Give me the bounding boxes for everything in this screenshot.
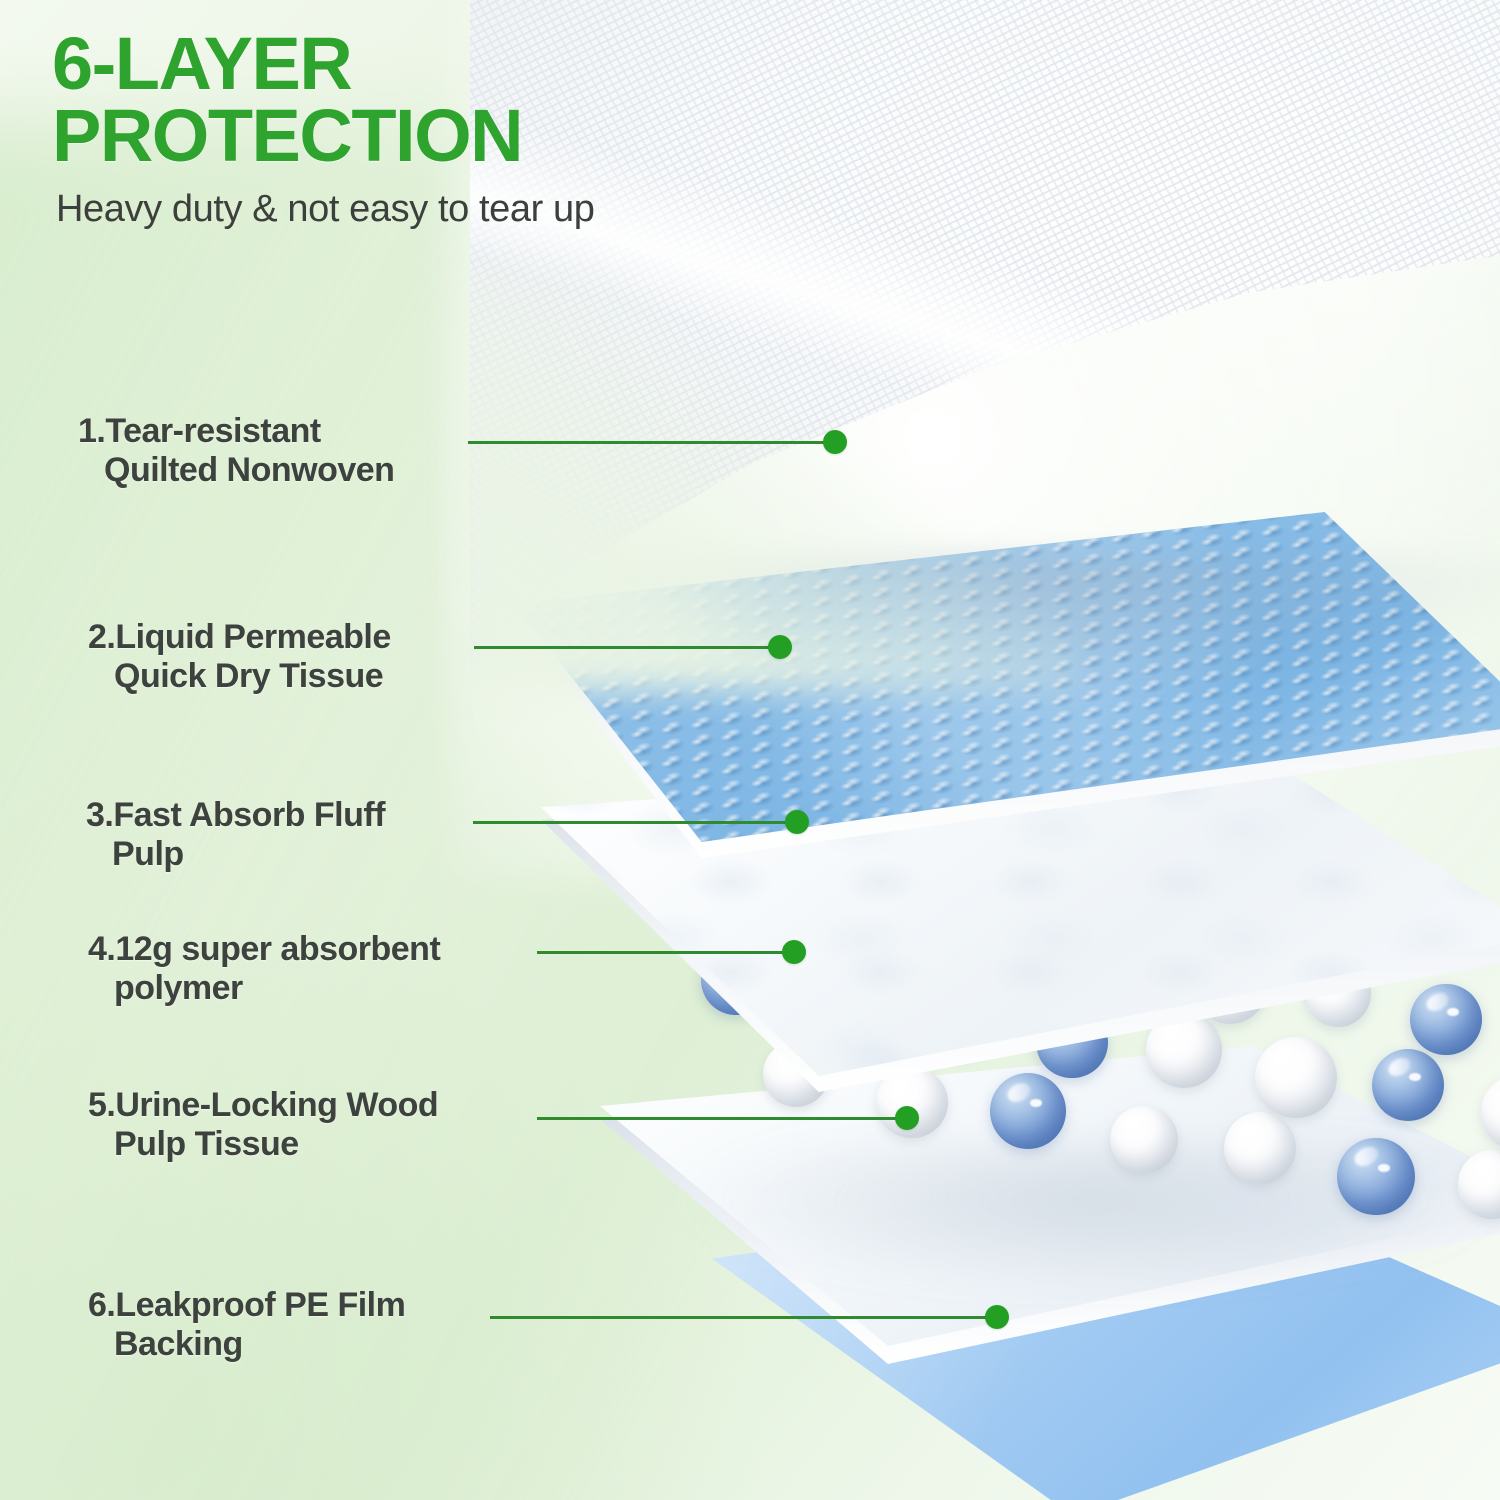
leader-bar-3 [473, 821, 800, 824]
sap-bead-white [1458, 1150, 1500, 1219]
header-block: 6-LAYER PROTECTION Heavy duty & not easy… [52, 28, 812, 231]
leader-dot-2 [768, 635, 792, 659]
label-layer-3: 3.Fast Absorb Fluff Pulp [86, 796, 506, 875]
label-layer-2-line-2: Quick Dry Tissue [88, 657, 518, 696]
leader-line-layer-1 [468, 431, 838, 453]
leader-line-layer-6 [490, 1306, 1000, 1328]
leader-dot-5 [895, 1106, 919, 1130]
bead-highlight [1496, 1080, 1500, 1107]
label-layer-6-line-2: Backing [88, 1325, 538, 1364]
leader-bar-6 [490, 1316, 1000, 1319]
sap-bead-white [1224, 1112, 1296, 1184]
leader-bar-1 [468, 441, 838, 444]
leader-line-layer-5 [537, 1107, 910, 1129]
leader-dot-1 [823, 430, 847, 454]
label-layer-1: 1.Tear-resistant Quilted Nonwoven [78, 412, 498, 491]
bead-specular-dot [1447, 1008, 1458, 1016]
leader-line-layer-3 [473, 811, 800, 833]
page-subtitle: Heavy duty & not easy to tear up [56, 188, 812, 231]
leader-line-layer-2 [474, 636, 783, 658]
leader-bar-5 [537, 1117, 910, 1120]
label-layer-5-line-1: 5.Urine-Locking Wood [88, 1086, 438, 1124]
label-layer-1-line-1: 1.Tear-resistant [78, 412, 321, 450]
sap-bead-blue [1410, 984, 1481, 1055]
leader-dot-6 [985, 1305, 1009, 1329]
title-line-2: PROTECTION [52, 100, 812, 172]
leader-line-layer-4 [537, 941, 797, 963]
bead-highlight [1237, 1117, 1265, 1142]
label-layer-2: 2.Liquid Permeable Quick Dry Tissue [88, 618, 518, 697]
label-layer-3-line-2: Pulp [86, 835, 506, 874]
leader-bar-2 [474, 646, 783, 649]
leader-dot-3 [785, 810, 809, 834]
label-layer-1-line-2: Quilted Nonwoven [78, 451, 498, 490]
sap-bead-blue [1337, 1138, 1414, 1215]
bead-highlight [1271, 1043, 1302, 1071]
infographic-canvas: 6-LAYER PROTECTION Heavy duty & not easy… [0, 0, 1500, 1500]
label-layer-3-line-1: 3.Fast Absorb Fluff [86, 796, 385, 834]
bead-specular-dot [1030, 1099, 1042, 1107]
bead-highlight [1123, 1111, 1149, 1134]
label-layer-6: 6.Leakproof PE Film Backing [88, 1286, 538, 1365]
bead-highlight [1471, 1156, 1497, 1180]
leader-dot-4 [782, 940, 806, 964]
sap-bead-blue [990, 1073, 1066, 1149]
title-line-1: 6-LAYER [52, 22, 351, 105]
label-layer-2-line-1: 2.Liquid Permeable [88, 618, 391, 656]
leader-bar-4 [537, 951, 797, 954]
sap-bead-white [1255, 1037, 1336, 1118]
bead-highlight [1004, 1079, 1033, 1105]
bead-specular-dot [1409, 1073, 1421, 1081]
bead-specular-dot [1378, 1164, 1390, 1172]
label-layer-5-line-2: Pulp Tissue [88, 1125, 558, 1164]
label-layer-4: 4.12g super absorbent polymer [88, 930, 558, 1009]
sap-bead-blue [1372, 1049, 1444, 1121]
sap-bead-white [1110, 1106, 1177, 1173]
bead-highlight [1352, 1144, 1382, 1171]
label-layer-6-line-1: 6.Leakproof PE Film [88, 1286, 405, 1324]
nonwoven-edge-fade [460, 270, 1080, 690]
sap-bead-white [1481, 1074, 1500, 1152]
label-layer-4-line-2: polymer [88, 969, 558, 1008]
label-layer-5: 5.Urine-Locking Wood Pulp Tissue [88, 1086, 558, 1165]
page-title: 6-LAYER PROTECTION [52, 28, 812, 172]
label-layer-4-line-1: 4.12g super absorbent [88, 930, 440, 968]
